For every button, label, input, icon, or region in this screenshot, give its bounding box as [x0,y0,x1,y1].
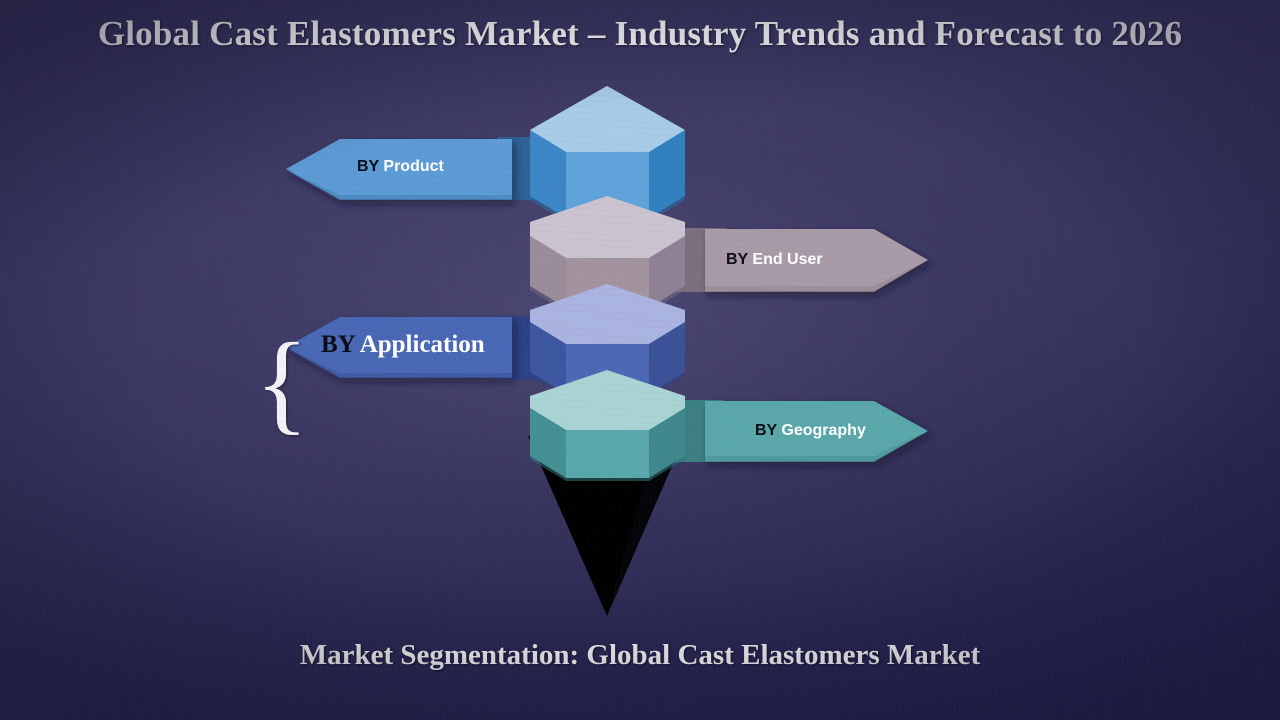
callout-arrow-end-user[interactable] [705,229,928,292]
segmentation-diagram [0,0,1280,720]
callout-arrow-product[interactable] [286,139,512,200]
callout-arrow-geography[interactable] [705,401,928,462]
slide-canvas: Global Cast Elastomers Market – Industry… [0,0,1280,720]
slide-caption: Market Segmentation: Global Cast Elastom… [0,639,1280,672]
callout-arrow-application[interactable] [286,317,512,378]
